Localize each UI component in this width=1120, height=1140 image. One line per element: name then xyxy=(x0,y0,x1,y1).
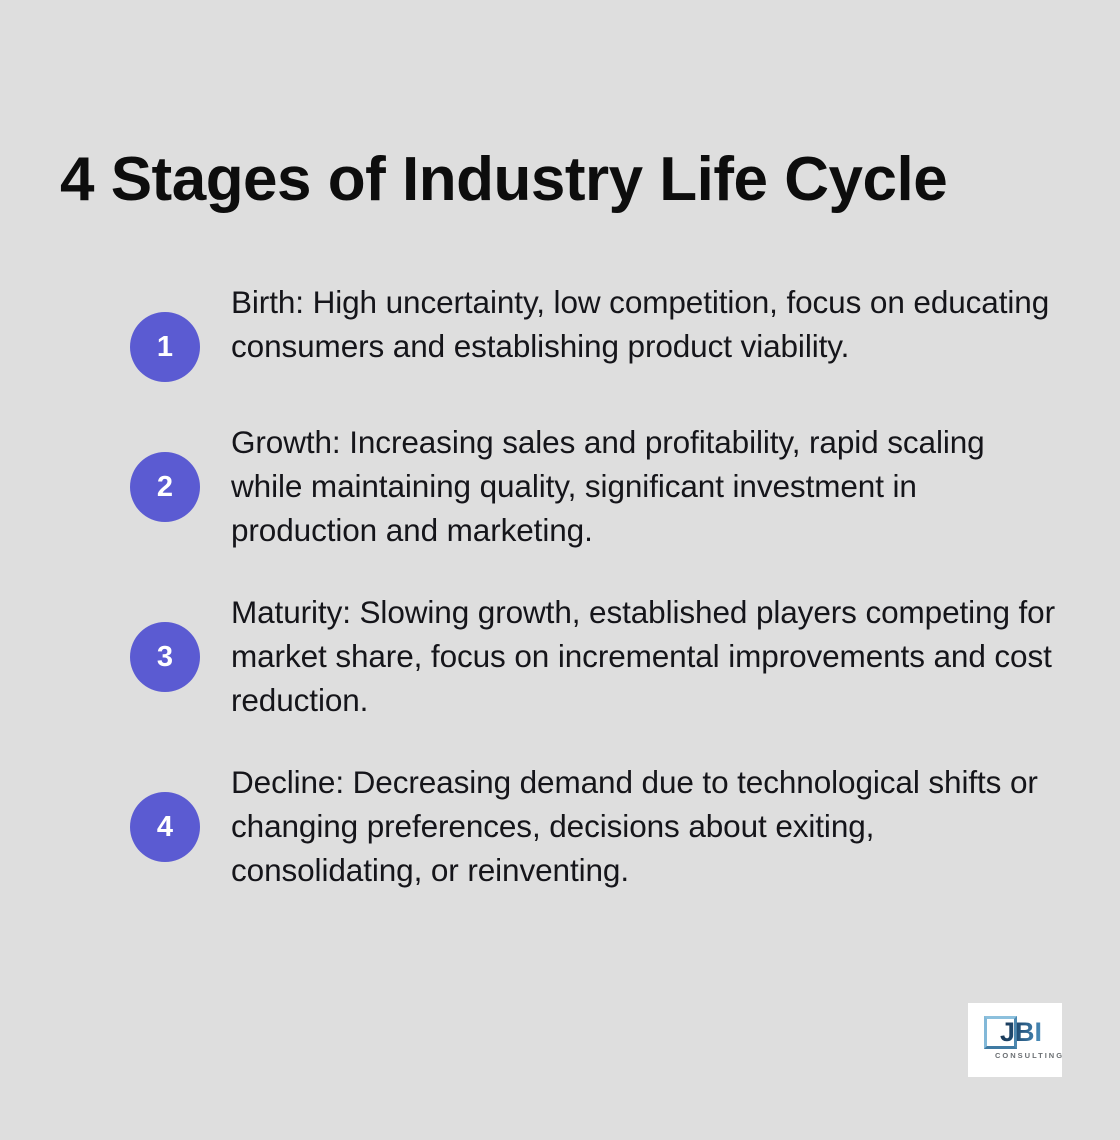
logo-tagline: CONSULTING xyxy=(995,1051,1064,1060)
list-item: 2 Growth: Increasing sales and profitabi… xyxy=(130,418,1060,552)
list-item-text: Birth: High uncertainty, low competition… xyxy=(231,278,1060,368)
logo-wordmark: JBI xyxy=(1000,1017,1042,1048)
step-number-badge: 3 xyxy=(130,622,200,692)
list-item-text: Decline: Decreasing demand due to techno… xyxy=(231,758,1060,892)
list-item-text: Maturity: Slowing growth, established pl… xyxy=(231,588,1060,722)
infographic-poster: 4 Stages of Industry Life Cycle 1 Birth:… xyxy=(0,0,1120,1140)
step-number-badge: 1 xyxy=(130,312,200,382)
brand-logo: JBI CONSULTING xyxy=(968,1003,1062,1077)
stages-list: 1 Birth: High uncertainty, low competiti… xyxy=(130,278,1060,892)
badge-wrapper: 4 xyxy=(130,758,200,862)
page-title: 4 Stages of Industry Life Cycle xyxy=(60,147,1060,214)
logo-inner: JBI CONSULTING xyxy=(978,1015,1052,1065)
list-item: 4 Decline: Decreasing demand due to tech… xyxy=(130,758,1060,892)
list-item: 3 Maturity: Slowing growth, established … xyxy=(130,588,1060,722)
badge-wrapper: 3 xyxy=(130,588,200,692)
list-item-text: Growth: Increasing sales and profitabili… xyxy=(231,418,1060,552)
badge-wrapper: 2 xyxy=(130,418,200,522)
step-number-badge: 4 xyxy=(130,792,200,862)
step-number-badge: 2 xyxy=(130,452,200,522)
list-item: 1 Birth: High uncertainty, low competiti… xyxy=(130,278,1060,382)
badge-wrapper: 1 xyxy=(130,278,200,382)
